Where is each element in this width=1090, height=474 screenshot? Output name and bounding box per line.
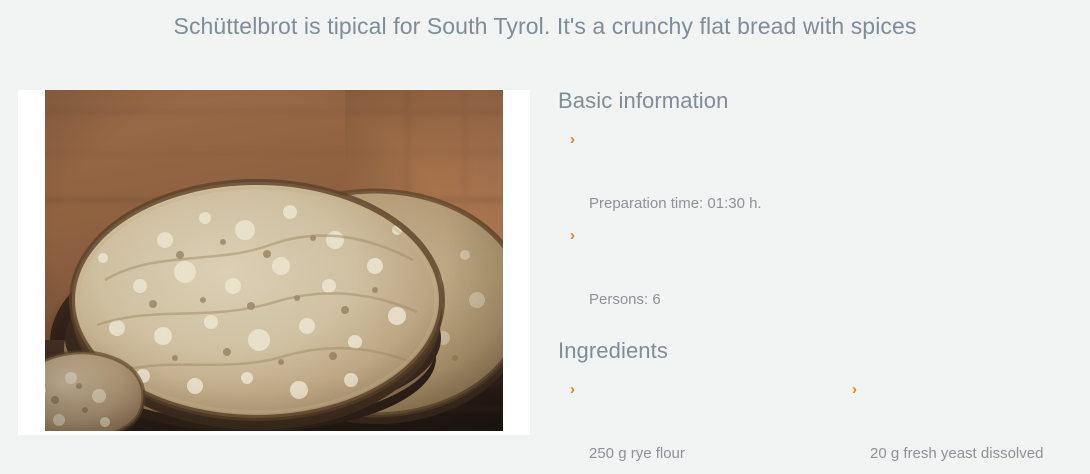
ingredients-list-left: › 250 g rye flour › 250 ml lukewarm wate… [558, 374, 838, 474]
recipe-details: Basic information › Preparation time: 01… [558, 88, 1078, 474]
list-item: › 250 ml lukewarm water (30° C) [558, 470, 838, 474]
ingredients-list-right: › 20 g fresh yeast dissolved in 850 ml l… [838, 374, 1078, 474]
chevron-right-icon: › [570, 220, 575, 252]
basic-information-section: Basic information › Preparation time: 01… [558, 88, 1078, 316]
recipe-photo [45, 90, 503, 431]
basic-information-heading: Basic information [558, 88, 1078, 114]
list-item-label: Preparation time: 01:30 h. [589, 195, 762, 212]
list-item: › 20 g fresh yeast dissolved in 850 ml l… [838, 374, 1078, 474]
chevron-right-icon: › [852, 374, 857, 406]
ingredients-column-right: › 20 g fresh yeast dissolved in 850 ml l… [838, 374, 1078, 474]
list-item-label: 250 g rye flour [589, 445, 685, 462]
basic-information-list: › Preparation time: 01:30 h. › Persons: … [558, 124, 1078, 316]
page-title: Schüttelbrot is tipical for South Tyrol.… [0, 13, 1090, 40]
ingredients-columns: › 250 g rye flour › 250 ml lukewarm wate… [558, 374, 1078, 474]
chevron-right-icon: › [570, 374, 575, 406]
chevron-right-icon: › [570, 470, 575, 474]
schuettelbrot-photo-illustration [45, 90, 503, 431]
list-item: › Persons: 6 [558, 220, 1078, 316]
list-item: › 250 g rye flour [558, 374, 838, 470]
list-item-label: 20 g fresh yeast dissolved in 850 ml luk… [870, 445, 1043, 474]
chevron-right-icon: › [570, 124, 575, 156]
recipe-photo-frame [18, 90, 530, 435]
ingredients-heading: Ingredients [558, 338, 1078, 364]
list-item: › Preparation time: 01:30 h. [558, 124, 1078, 220]
list-item-label: Persons: 6 [589, 291, 661, 308]
ingredients-section: Ingredients › 250 g rye flour › 250 ml l… [558, 338, 1078, 474]
ingredients-column-left: › 250 g rye flour › 250 ml lukewarm wate… [558, 374, 838, 474]
